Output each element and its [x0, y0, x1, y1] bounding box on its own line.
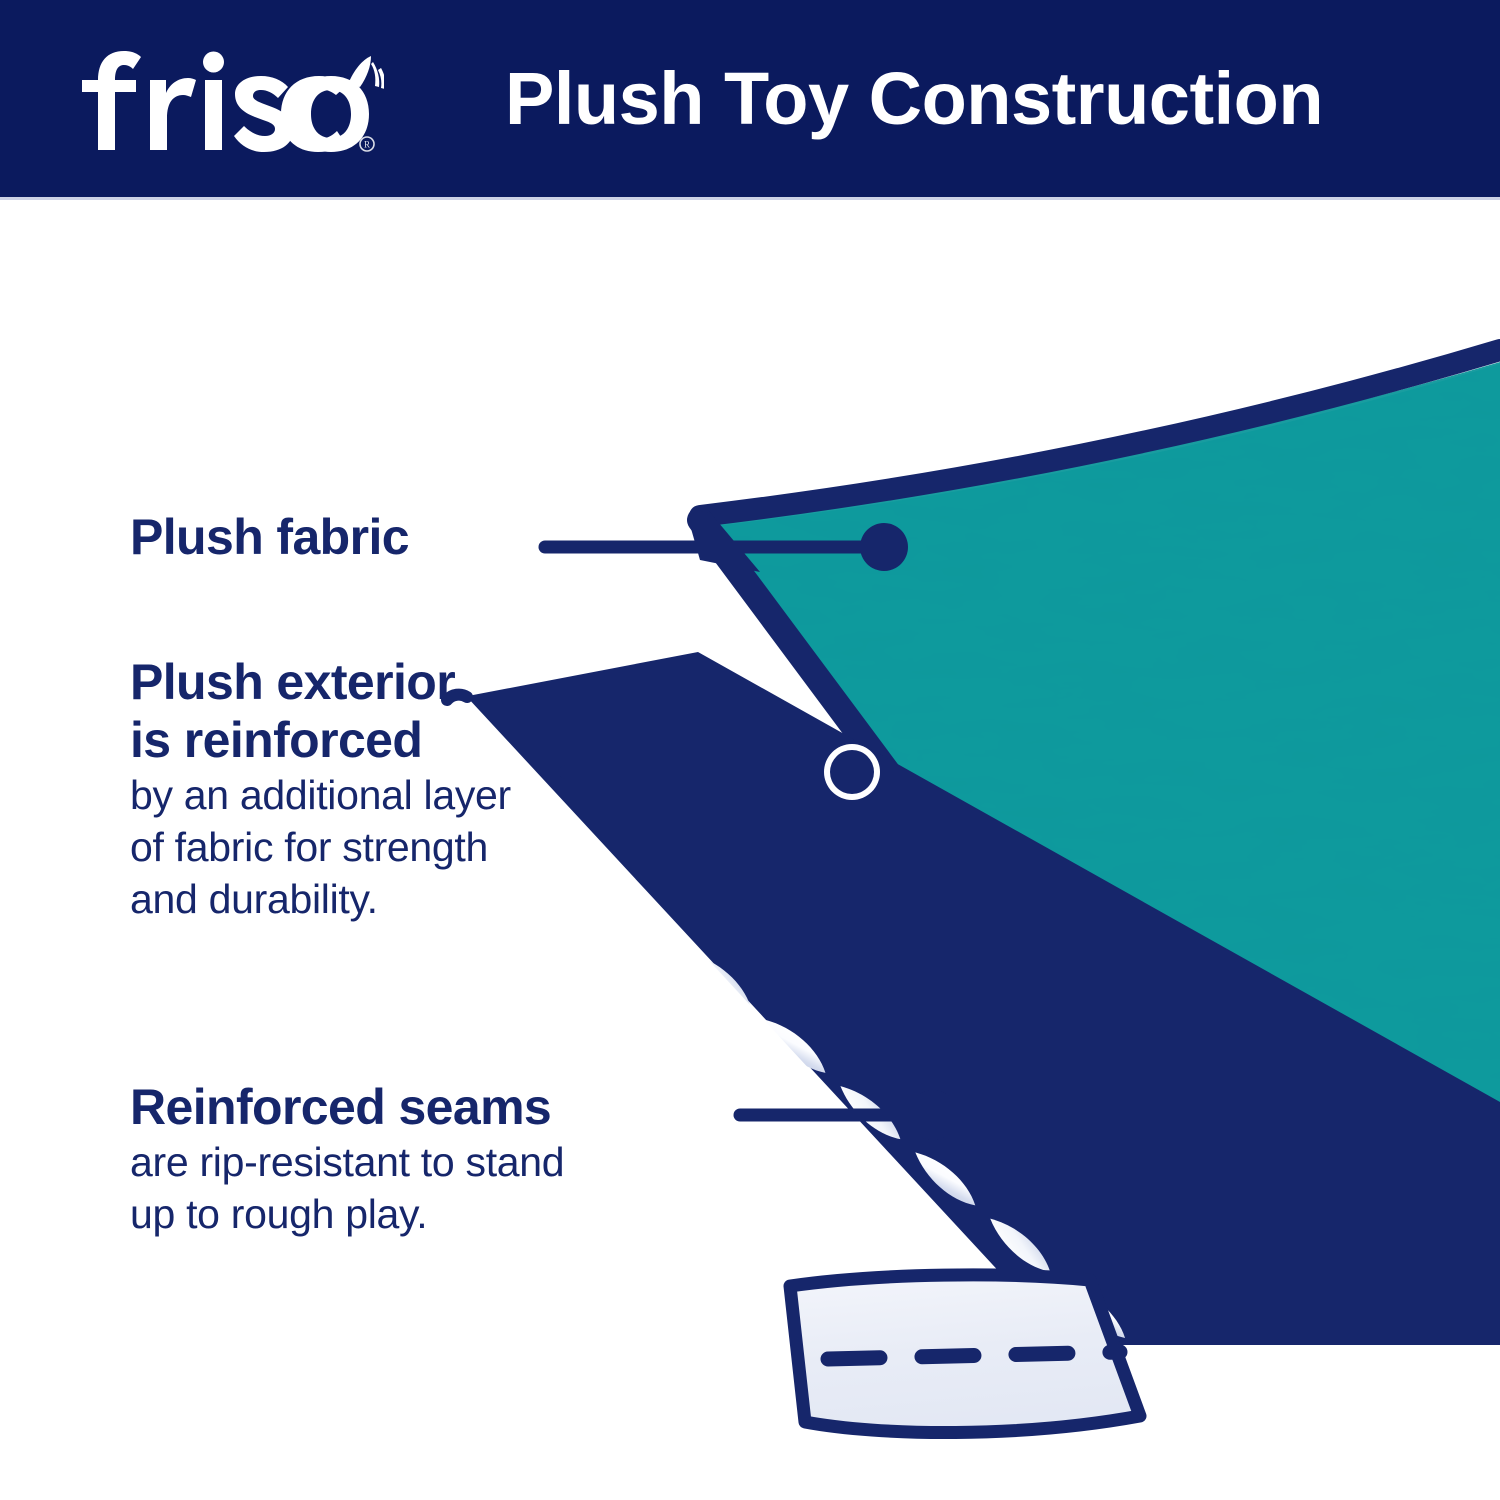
page-title: Plush Toy Construction [505, 44, 1405, 154]
callout-reinforced-seams: Reinforced seams are rip-resistant to st… [130, 1078, 564, 1240]
callout-plush-exterior-body-line-1: by an additional layer [130, 769, 511, 821]
callout-plush-exterior-heading-line-2: is reinforced [130, 711, 511, 769]
callout-reinforced-seams-body-line-1: are rip-resistant to stand [130, 1136, 564, 1188]
seam-flap-layer [790, 1275, 1140, 1433]
callout-plush-exterior-body-line-3: and durability. [130, 873, 511, 925]
callout-plush-fabric: Plush fabric [130, 508, 409, 566]
svg-text:R: R [364, 140, 370, 150]
callout-plush-exterior-body-line-2: of fabric for strength [130, 821, 511, 873]
callout-plush-fabric-heading-line-1: Plush fabric [130, 508, 409, 566]
callout-reinforced-seams-heading-line-1: Reinforced seams [130, 1078, 564, 1136]
callout-reinforced-seams-body-line-2: up to rough play. [130, 1188, 564, 1240]
frisco-logo: R [74, 46, 384, 154]
infographic-canvas: R Plush Toy Construction [0, 0, 1500, 1500]
callout-plush-exterior: Plush exterior is reinforced by an addit… [130, 653, 511, 925]
callout-plush-exterior-heading-line-1: Plush exterior [130, 653, 511, 711]
header-bar: R Plush Toy Construction [0, 0, 1500, 200]
